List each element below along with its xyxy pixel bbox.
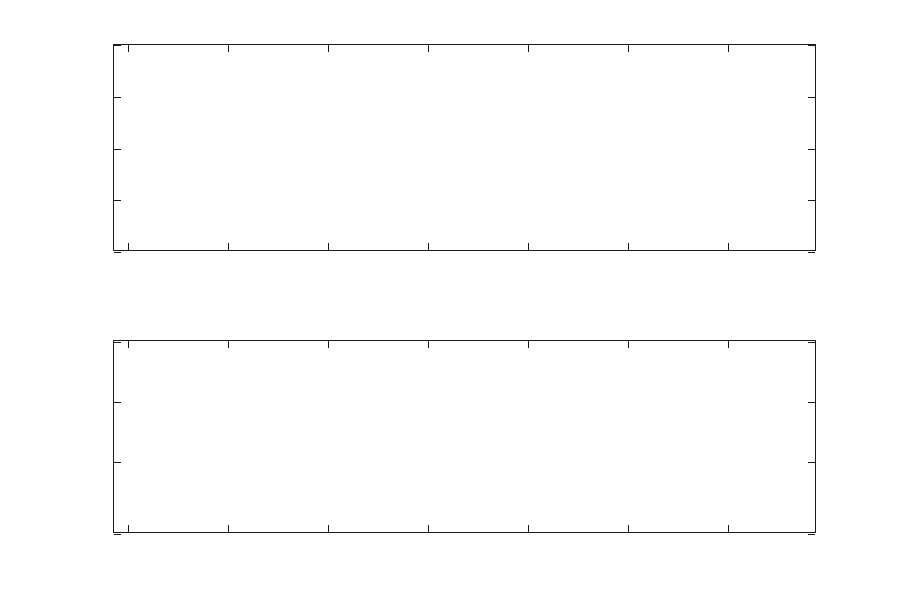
plot-area-tidal-height[interactable]: [113, 340, 816, 533]
figure-canvas: [0, 0, 900, 600]
y-tick-bottom-mirror-0: [808, 534, 815, 535]
y-tick-top-mirror-0: [808, 252, 815, 253]
data-line-tidal-height: [114, 341, 815, 532]
data-line-current-speed: [114, 45, 815, 250]
y-tick-top-0: [114, 252, 121, 253]
y-tick-bottom-0: [114, 534, 121, 535]
plot-area-current-speed[interactable]: [113, 44, 816, 251]
